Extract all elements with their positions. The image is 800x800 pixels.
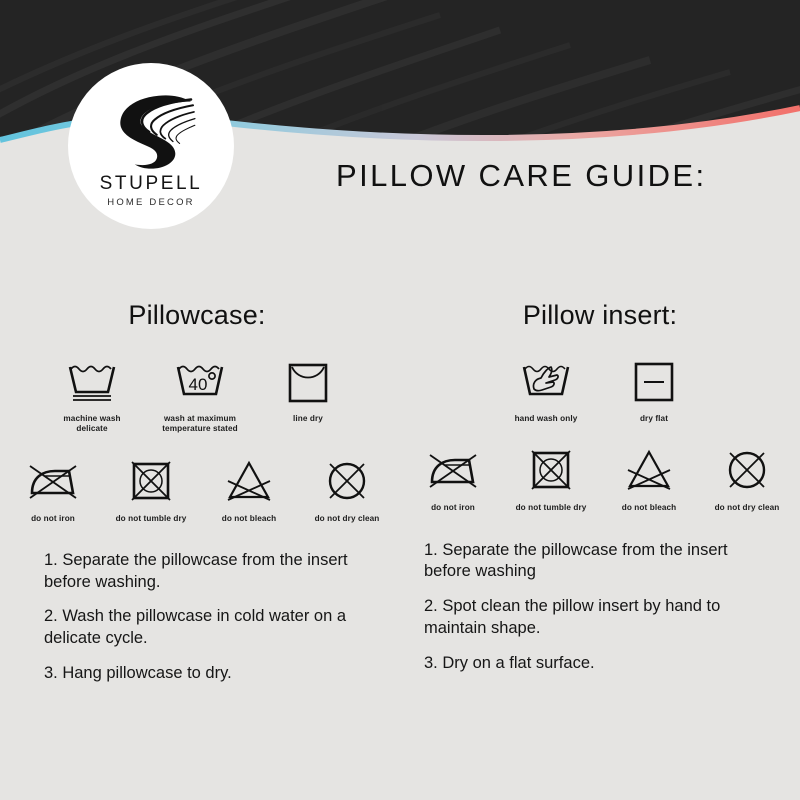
brand-logo: STUPELL HOME DECOR — [68, 63, 234, 229]
column-heading: Pillow insert: — [400, 300, 800, 331]
do-not-dry-clean-icon — [323, 459, 371, 503]
instruction-step: 2. Spot clean the pillow insert by hand … — [424, 596, 774, 640]
symbol-caption: do not dry clean — [315, 514, 380, 524]
do-not-bleach-icon — [224, 459, 274, 503]
line-dry-icon — [284, 359, 332, 403]
page-title: PILLOW CARE GUIDE: — [336, 158, 707, 194]
symbol-caption: machine wash delicate — [63, 414, 120, 435]
do-not-tumble-dry-icon — [527, 448, 575, 492]
symbol-do-not-bleach: do not bleach — [208, 455, 290, 524]
symbol-wash-max-temperature: 40 wash at maximum temperature stated — [159, 355, 241, 435]
symbol-caption: do not bleach — [222, 514, 277, 524]
symbol-do-not-dry-clean: do not dry clean — [706, 444, 788, 513]
symbol-caption: dry flat — [640, 414, 668, 424]
symbol-caption: do not iron — [431, 503, 475, 513]
symbol-do-not-dry-clean: do not dry clean — [306, 455, 388, 524]
instruction-list: 1. Separate the pillowcase from the inse… — [0, 550, 400, 685]
symbol-caption: do not tumble dry — [116, 514, 187, 524]
symbol-row-wash: machine wash delicate 40 wash at maximum… — [0, 355, 400, 435]
instruction-step: 3. Hang pillowcase to dry. — [44, 663, 366, 685]
symbol-row-prohibitions: do not iron do not tumble dry — [400, 444, 800, 513]
symbol-caption: do not dry clean — [715, 503, 780, 513]
symbol-do-not-tumble-dry: do not tumble dry — [510, 444, 592, 513]
column-pillow-insert: Pillow insert: hand wash only — [400, 300, 800, 698]
wash-max-temperature-icon: 40 — [174, 359, 226, 403]
symbol-caption: hand wash only — [515, 414, 578, 424]
symbol-do-not-iron: do not iron — [412, 444, 494, 513]
care-columns: Pillowcase: machine wash delicate — [0, 300, 800, 698]
symbol-caption: do not bleach — [622, 503, 677, 513]
do-not-iron-icon — [427, 448, 479, 492]
brand-name: STUPELL — [100, 174, 203, 193]
hand-wash-only-icon — [520, 359, 572, 403]
stupell-swoosh-logo-icon — [103, 90, 199, 172]
svg-text:40: 40 — [189, 375, 208, 394]
symbol-row-wash: hand wash only dry flat — [400, 355, 800, 424]
do-not-tumble-dry-icon — [127, 459, 175, 503]
dry-flat-icon — [630, 359, 678, 403]
symbol-caption: do not tumble dry — [516, 503, 587, 513]
instruction-step: 3. Dry on a flat surface. — [424, 653, 774, 675]
do-not-bleach-icon — [624, 448, 674, 492]
instruction-step: 1. Separate the pillowcase from the inse… — [424, 540, 774, 584]
symbol-do-not-tumble-dry: do not tumble dry — [110, 455, 192, 524]
symbol-do-not-bleach: do not bleach — [608, 444, 690, 513]
column-heading: Pillowcase: — [0, 300, 400, 331]
instruction-step: 2. Wash the pillowcase in cold water on … — [44, 606, 366, 650]
symbol-line-dry: line dry — [267, 355, 349, 424]
symbol-hand-wash-only: hand wash only — [505, 355, 587, 424]
instruction-list: 1. Separate the pillowcase from the inse… — [400, 540, 800, 675]
do-not-dry-clean-icon — [723, 448, 771, 492]
do-not-iron-icon — [27, 459, 79, 503]
symbol-caption: wash at maximum temperature stated — [162, 414, 238, 435]
symbol-do-not-iron: do not iron — [12, 455, 94, 524]
symbol-machine-wash-delicate: machine wash delicate — [51, 355, 133, 435]
machine-wash-delicate-icon — [66, 359, 118, 403]
symbol-caption: line dry — [293, 414, 323, 424]
column-pillowcase: Pillowcase: machine wash delicate — [0, 300, 400, 698]
symbol-caption: do not iron — [31, 514, 75, 524]
brand-tagline: HOME DECOR — [107, 198, 194, 208]
symbol-dry-flat: dry flat — [613, 355, 695, 424]
instruction-step: 1. Separate the pillowcase from the inse… — [44, 550, 366, 594]
symbol-row-prohibitions: do not iron do not tumble dry — [0, 455, 400, 524]
